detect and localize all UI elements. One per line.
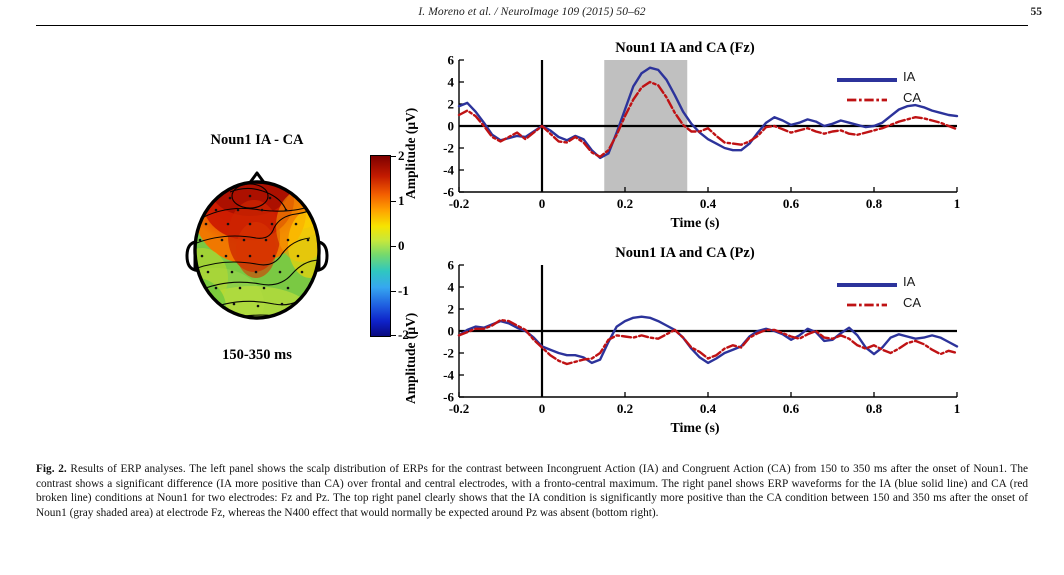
x-axis-label-fz: Time (s) <box>435 216 955 232</box>
svg-text:0.2: 0.2 <box>617 401 633 416</box>
svg-text:2: 2 <box>448 97 455 112</box>
svg-text:0: 0 <box>539 196 546 211</box>
topography-title: Noun1 IA - CA <box>162 132 352 149</box>
legend-item-ca: CA <box>837 91 949 111</box>
colorbar-gradient <box>370 155 391 337</box>
legend-swatch-ca <box>837 98 897 102</box>
svg-text:-0.2: -0.2 <box>449 196 470 211</box>
x-axis-label-pz: Time (s) <box>435 421 955 437</box>
svg-text:-2: -2 <box>443 346 454 361</box>
svg-text:-4: -4 <box>443 163 454 178</box>
svg-text:0.8: 0.8 <box>866 196 883 211</box>
topography-panel: Noun1 IA - CA <box>140 132 410 382</box>
legend-swatch-ia <box>837 283 897 287</box>
colorbar-tick-label: 0 <box>398 237 405 254</box>
svg-text:0.2: 0.2 <box>617 196 633 211</box>
waveform-ca <box>459 320 957 364</box>
svg-text:6: 6 <box>448 56 455 68</box>
running-head: I. Moreno et al. / NeuroImage 109 (2015)… <box>0 6 1064 22</box>
legend-item-ca: CA <box>837 296 949 316</box>
svg-text:6: 6 <box>448 261 455 273</box>
legend-swatch-ia <box>837 78 897 82</box>
topography-time-window: 150-350 ms <box>162 347 352 364</box>
legend-label-ca: CA <box>903 90 921 105</box>
plot-title-fz: Noun1 IA and CA (Fz) <box>405 40 965 57</box>
svg-text:0.6: 0.6 <box>783 196 800 211</box>
legend-pz: IA CA <box>837 275 949 319</box>
svg-text:0: 0 <box>448 119 455 134</box>
legend-swatch-ca <box>837 303 897 307</box>
legend-label-ca: CA <box>903 295 921 310</box>
figure-caption: Fig. 2. Results of ERP analyses. The lef… <box>36 462 1028 520</box>
svg-text:4: 4 <box>448 75 455 90</box>
svg-text:-0.2: -0.2 <box>449 401 470 416</box>
svg-text:0: 0 <box>539 401 546 416</box>
scalp-field <box>182 158 332 330</box>
figure-caption-label: Fig. 2. <box>36 463 67 475</box>
legend-label-ia: IA <box>903 69 915 84</box>
y-axis-label-pz: Amplitude (μV) <box>403 293 421 423</box>
figure-caption-text: Results of ERP analyses. The left panel … <box>36 463 1028 519</box>
svg-text:1: 1 <box>954 401 961 416</box>
legend-item-ia: IA <box>837 275 949 295</box>
svg-text:-2: -2 <box>443 141 454 156</box>
svg-text:0.8: 0.8 <box>866 401 883 416</box>
scalp-map-svg <box>182 158 332 330</box>
page-number: 55 <box>1031 6 1043 18</box>
legend-item-ia: IA <box>837 70 949 90</box>
svg-text:0: 0 <box>448 324 455 339</box>
legend-label-ia: IA <box>903 274 915 289</box>
svg-text:2: 2 <box>448 302 455 317</box>
figure-2: Noun1 IA - CA <box>0 32 1064 447</box>
plot-title-pz: Noun1 IA and CA (Pz) <box>405 245 965 262</box>
erp-panel: Noun1 IA and CA (Fz) Amplitude (μV) Time… <box>405 32 1025 447</box>
y-axis-label-fz: Amplitude (μV) <box>403 88 421 218</box>
header-rule <box>36 25 1028 26</box>
svg-text:4: 4 <box>448 280 455 295</box>
svg-text:1: 1 <box>954 196 961 211</box>
legend-fz: IA CA <box>837 70 949 114</box>
svg-text:0.4: 0.4 <box>700 401 717 416</box>
svg-text:-4: -4 <box>443 368 454 383</box>
svg-text:0.6: 0.6 <box>783 401 800 416</box>
svg-text:0.4: 0.4 <box>700 196 717 211</box>
scalp-map <box>182 158 332 330</box>
